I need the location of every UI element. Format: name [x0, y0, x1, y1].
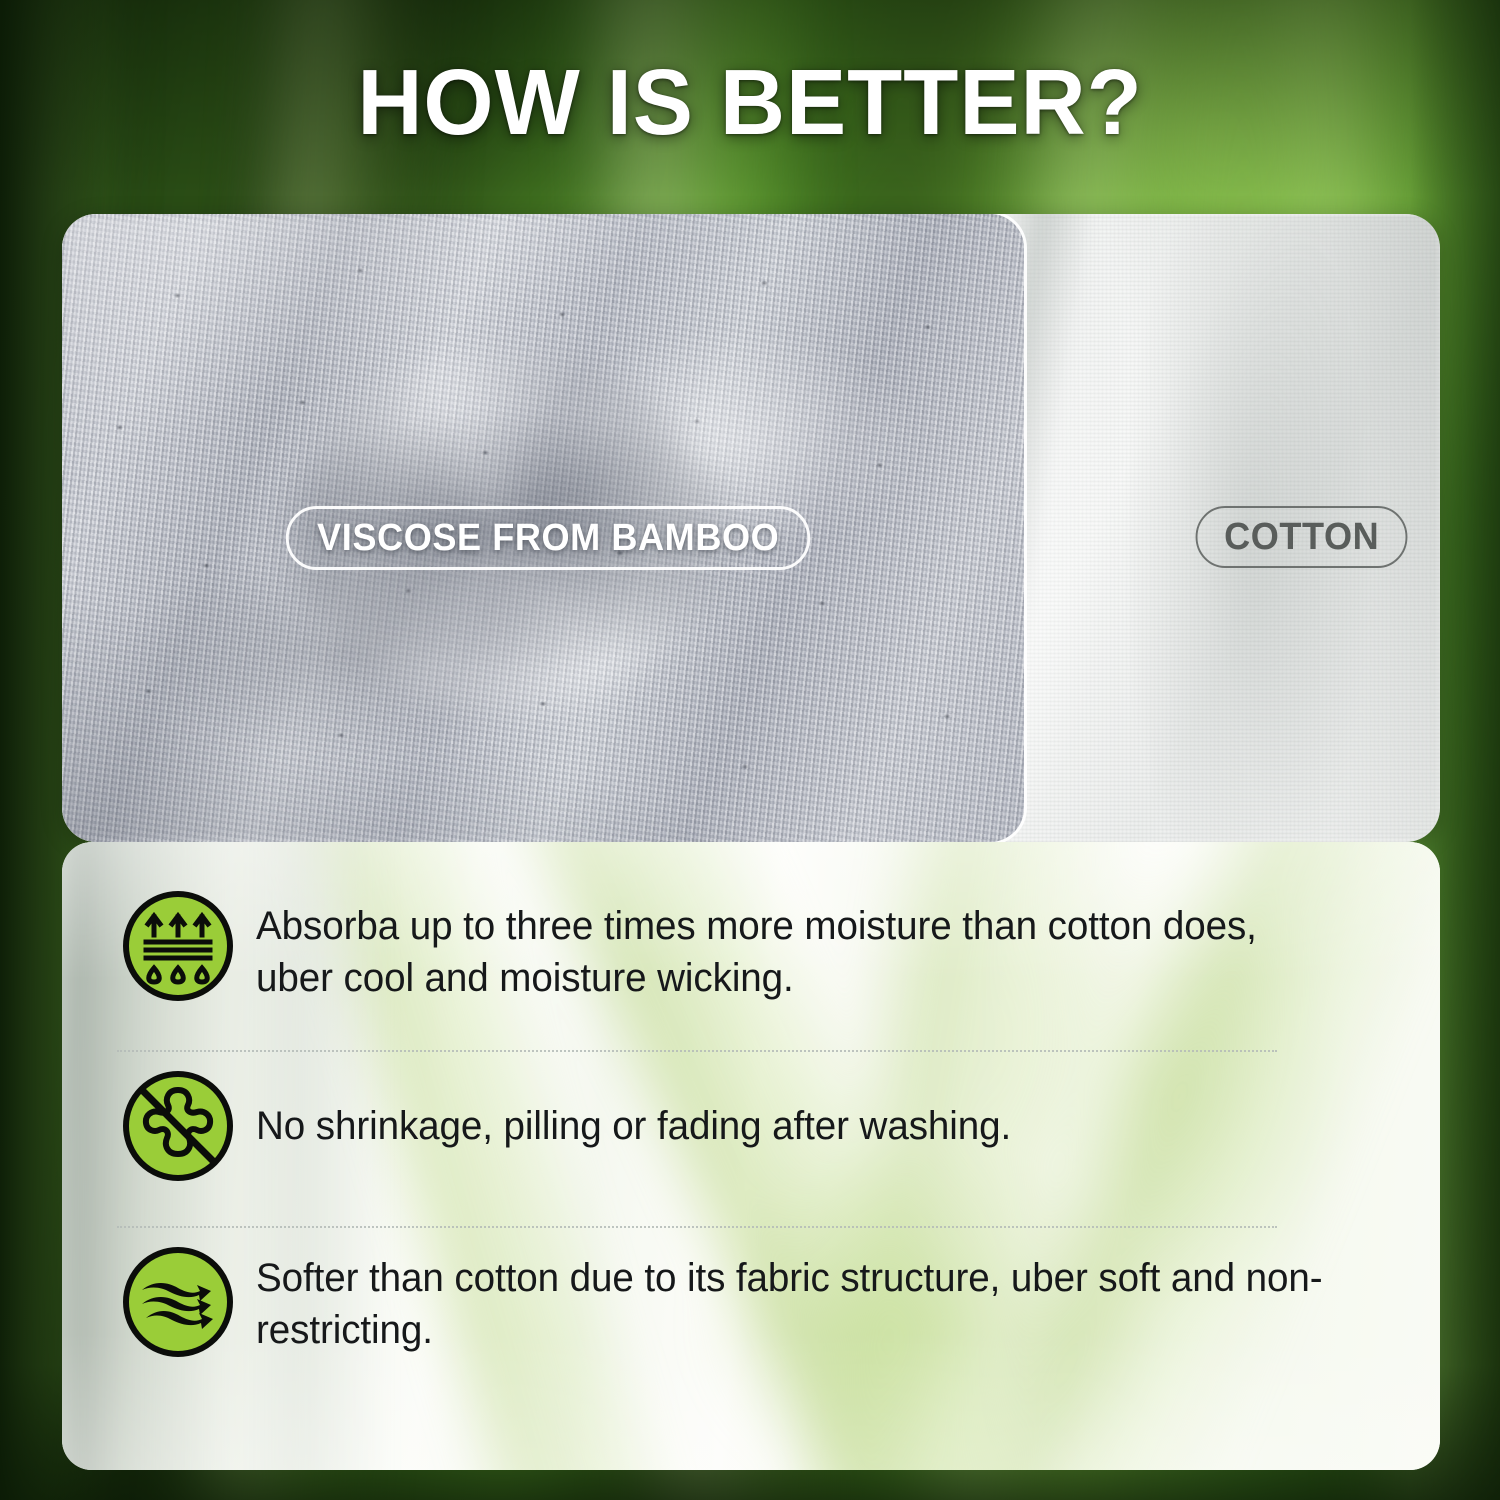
benefit-text: Softer than cotton due to its fabric str… — [256, 1246, 1341, 1356]
benefits-card: Absorba up to three times more moisture … — [62, 842, 1440, 1470]
label-cotton: COTTON — [1196, 506, 1408, 568]
label-viscose-from-bamboo: VISCOSE FROM BAMBOO — [286, 506, 811, 570]
benefit-item: Absorba up to three times more moisture … — [122, 890, 1380, 1004]
benefit-item: No shrinkage, pilling or fading after wa… — [122, 1070, 1380, 1182]
fabric-comparison-card: VISCOSE FROM BAMBOO COTTON — [62, 214, 1440, 842]
benefit-list: Absorba up to three times more moisture … — [62, 842, 1440, 1470]
page-title: HOW IS BETTER? — [23, 56, 1478, 149]
benefit-divider — [117, 1050, 1277, 1052]
benefit-text: No shrinkage, pilling or fading after wa… — [256, 1070, 1341, 1152]
softness-airflow-icon — [122, 1246, 234, 1358]
no-shrinkage-icon — [122, 1070, 234, 1182]
benefit-divider — [117, 1226, 1277, 1228]
benefit-item: Softer than cotton due to its fabric str… — [122, 1246, 1380, 1358]
moisture-wicking-icon — [122, 890, 234, 1002]
infographic-poster: HOW IS BETTER? VISCOSE FROM BAMBOO COTTO… — [0, 0, 1500, 1500]
benefit-text: Absorba up to three times more moisture … — [256, 890, 1341, 1004]
